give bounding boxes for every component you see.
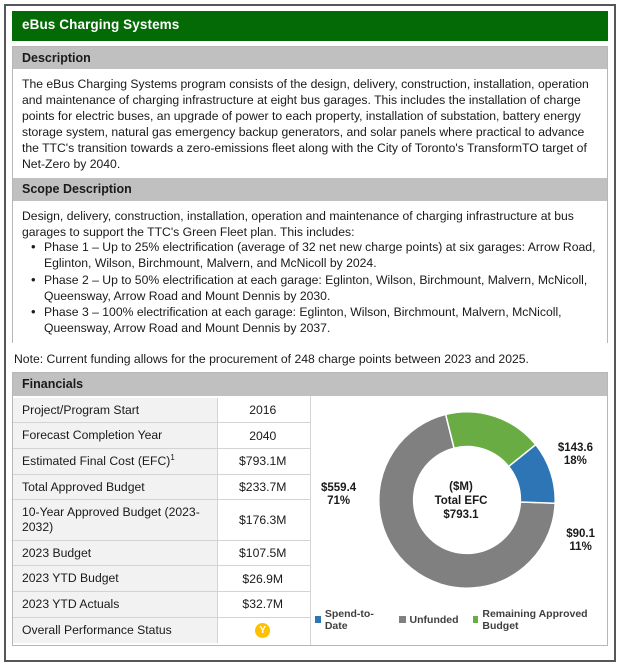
scope-section-body: Design, delivery, construction, installa… <box>13 202 607 343</box>
row-label: Estimated Final Cost (EFC)1 <box>13 449 217 475</box>
row-value: $176.3M <box>217 500 310 540</box>
table-row: 10-Year Approved Budget (2023-2032) $176… <box>13 500 310 540</box>
legend-item-spend-to-date: Spend-to-Date <box>315 608 385 632</box>
legend-swatch-blue <box>315 616 321 623</box>
table-row: 2023 Budget $107.5M <box>13 540 310 566</box>
row-value: $233.7M <box>217 474 310 500</box>
financials-table-column: Project/Program Start 2016 Forecast Comp… <box>13 396 310 645</box>
donut-label-remaining-approved-budget: $143.6 18% <box>558 442 593 469</box>
efc-donut-chart: ($M) Total EFC $793.1 $559.4 71% $143.6 … <box>310 396 607 645</box>
row-label: Overall Performance Status <box>13 617 217 643</box>
legend-item-unfunded: Unfunded <box>399 614 459 626</box>
row-label-footnote-marker: 1 <box>170 453 174 462</box>
description-text: The eBus Charging Systems program consis… <box>22 77 598 172</box>
content-body: Description The eBus Charging Systems pr… <box>12 46 608 343</box>
funding-note: Note: Current funding allows for the pro… <box>12 343 608 372</box>
table-row: 2023 YTD Actuals $32.7M <box>13 591 310 617</box>
donut-center-unit: ($M) <box>406 480 516 494</box>
row-value: 2016 <box>217 398 310 423</box>
donut-center-title: Total EFC <box>406 494 516 508</box>
legend-swatch-green <box>473 616 479 623</box>
donut-center-label: ($M) Total EFC $793.1 <box>406 480 516 522</box>
page-title: eBus Charging Systems <box>12 11 608 41</box>
donut-label-spend-percent: 11% <box>566 541 595 555</box>
row-label: 10-Year Approved Budget (2023-2032) <box>13 500 217 540</box>
list-item: Phase 3 – 100% electrification at each g… <box>44 305 598 337</box>
table-row: Total Approved Budget $233.7M <box>13 474 310 500</box>
table-row: Forecast Completion Year 2040 <box>13 423 310 449</box>
legend-label-unfunded: Unfunded <box>410 614 459 626</box>
legend-label-remaining-approved-budget: Remaining Approved Budget <box>482 608 603 632</box>
donut-chart-area: ($M) Total EFC $793.1 $559.4 71% $143.6 … <box>315 400 603 606</box>
row-label: Forecast Completion Year <box>13 423 217 449</box>
donut-center-value: $793.1 <box>406 508 516 522</box>
row-value: $107.5M <box>217 540 310 566</box>
donut-label-remaining-value: $143.6 <box>558 442 593 456</box>
legend-label-spend-to-date: Spend-to-Date <box>325 608 385 632</box>
row-label: 2023 YTD Actuals <box>13 591 217 617</box>
list-item: Phase 2 – Up to 50% electrification at e… <box>44 273 598 305</box>
description-section-heading: Description <box>13 47 607 70</box>
row-value: $32.7M <box>217 591 310 617</box>
table-row: Overall Performance Status Y <box>13 617 310 643</box>
donut-label-spend-to-date: $90.1 11% <box>566 528 595 555</box>
table-row: Project/Program Start 2016 <box>13 398 310 423</box>
scope-intro-text: Design, delivery, construction, installa… <box>22 209 598 241</box>
financials-section-heading: Financials <box>13 373 607 395</box>
row-label: 2023 YTD Budget <box>13 566 217 592</box>
donut-label-remaining-percent: 18% <box>558 455 593 469</box>
page-root: eBus Charging Systems Description The eB… <box>0 0 620 666</box>
description-section-body: The eBus Charging Systems program consis… <box>13 70 607 178</box>
row-value: $793.1M <box>217 449 310 475</box>
scope-section-heading: Scope Description <box>13 178 607 201</box>
row-label-text: Estimated Final Cost (EFC) <box>22 454 170 468</box>
donut-label-unfunded-value: $559.4 <box>321 482 356 496</box>
legend-swatch-gray <box>399 616 406 623</box>
scope-bullet-list: Phase 1 – Up to 25% electrification (ave… <box>22 240 598 336</box>
financials-table: Project/Program Start 2016 Forecast Comp… <box>13 398 310 643</box>
donut-label-unfunded: $559.4 71% <box>321 482 356 509</box>
table-row: Estimated Final Cost (EFC)1 $793.1M <box>13 449 310 475</box>
row-label: Project/Program Start <box>13 398 217 423</box>
project-card: eBus Charging Systems Description The eB… <box>12 11 608 654</box>
financials-content: Project/Program Start 2016 Forecast Comp… <box>13 396 607 645</box>
row-value: $26.9M <box>217 566 310 592</box>
donut-label-spend-value: $90.1 <box>566 528 595 542</box>
chart-legend: Spend-to-Date Unfunded Remaining Approve… <box>315 606 603 636</box>
list-item: Phase 1 – Up to 25% electrification (ave… <box>44 240 598 272</box>
financials-section: Financials Project/Program Start 2016 Fo… <box>12 372 608 645</box>
project-card-frame: eBus Charging Systems Description The eB… <box>4 4 616 662</box>
donut-label-unfunded-percent: 71% <box>321 495 356 509</box>
table-row: 2023 YTD Budget $26.9M <box>13 566 310 592</box>
row-label: 2023 Budget <box>13 540 217 566</box>
row-label: Total Approved Budget <box>13 474 217 500</box>
status-badge: Y <box>255 623 270 638</box>
row-value: 2040 <box>217 423 310 449</box>
row-value: Y <box>217 617 310 643</box>
legend-item-remaining-approved-budget: Remaining Approved Budget <box>473 608 603 632</box>
